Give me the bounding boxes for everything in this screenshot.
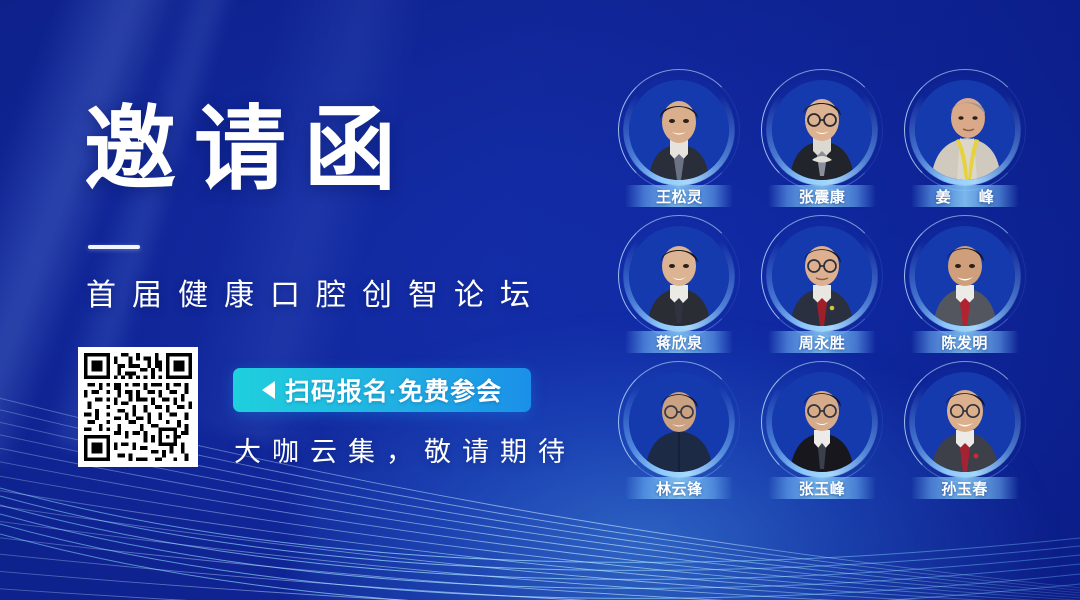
speaker-name-tag: 孙玉春	[911, 477, 1019, 499]
avatar-photo	[772, 80, 872, 180]
speaker-card[interactable]: 周永胜	[755, 224, 890, 362]
qr-code-icon[interactable]	[78, 347, 198, 467]
avatar-photo	[772, 226, 872, 326]
title-divider	[88, 245, 140, 249]
avatar-photo	[629, 372, 729, 472]
speaker-name-tag: 姜 峰	[911, 185, 1019, 207]
avatar	[770, 78, 874, 182]
speaker-card[interactable]: 张玉峰	[755, 370, 890, 508]
speaker-card[interactable]: 姜 峰	[897, 78, 1032, 216]
speaker-name: 陈发明	[941, 332, 988, 353]
avatar-photo	[915, 226, 1015, 326]
speaker-name-tag: 陈发明	[911, 331, 1019, 353]
speaker-name-tag: 王松灵	[625, 185, 733, 207]
speaker-name: 张震康	[799, 186, 846, 207]
speaker-name: 周永胜	[799, 332, 846, 353]
speaker-name-tag: 张震康	[768, 185, 876, 207]
speaker-name: 蒋欣泉	[656, 332, 703, 353]
event-subtitle: 首届健康口腔创智论坛	[86, 270, 546, 314]
speaker-name: 林云锋	[656, 478, 703, 499]
speaker-name-tag: 张玉峰	[768, 477, 876, 499]
event-tagline: 大咖云集，敬请期待	[234, 430, 576, 469]
speaker-name-tag: 蒋欣泉	[625, 331, 733, 353]
avatar	[913, 78, 1017, 182]
avatar	[913, 224, 1017, 328]
triangle-left-icon	[262, 381, 275, 399]
avatar	[627, 224, 731, 328]
speaker-card[interactable]: 陈发明	[897, 224, 1032, 362]
avatar-photo	[772, 372, 872, 472]
page-title: 邀请函	[84, 104, 414, 196]
avatar-photo	[629, 226, 729, 326]
speaker-card[interactable]: 孙玉春	[897, 370, 1032, 508]
speaker-name: 张玉峰	[799, 478, 846, 499]
avatar	[770, 370, 874, 474]
invitation-poster: 邀请函 首届健康口腔创智论坛	[0, 0, 1080, 600]
speaker-card[interactable]: 林云锋	[612, 370, 747, 508]
speaker-card[interactable]: 蒋欣泉	[612, 224, 747, 362]
speaker-card[interactable]: 王松灵	[612, 78, 747, 216]
speaker-name: 孙玉春	[941, 478, 988, 499]
speaker-name: 姜 峰	[924, 186, 1006, 207]
speaker-name-tag: 林云锋	[625, 477, 733, 499]
speaker-name-tag: 周永胜	[768, 331, 876, 353]
avatar-photo	[629, 80, 729, 180]
speaker-name: 王松灵	[656, 186, 703, 207]
avatar	[770, 224, 874, 328]
speaker-card[interactable]: 张震康	[755, 78, 890, 216]
avatar-photo	[915, 80, 1015, 180]
avatar	[913, 370, 1017, 474]
avatar-photo	[915, 372, 1015, 472]
left-content: 邀请函 首届健康口腔创智论坛	[0, 0, 600, 600]
register-button[interactable]: 扫码报名·免费参会	[233, 368, 531, 412]
register-button-label: 扫码报名·免费参会	[285, 372, 502, 408]
avatar	[627, 78, 731, 182]
avatar	[627, 370, 731, 474]
speaker-grid: 王松灵	[612, 78, 1032, 508]
